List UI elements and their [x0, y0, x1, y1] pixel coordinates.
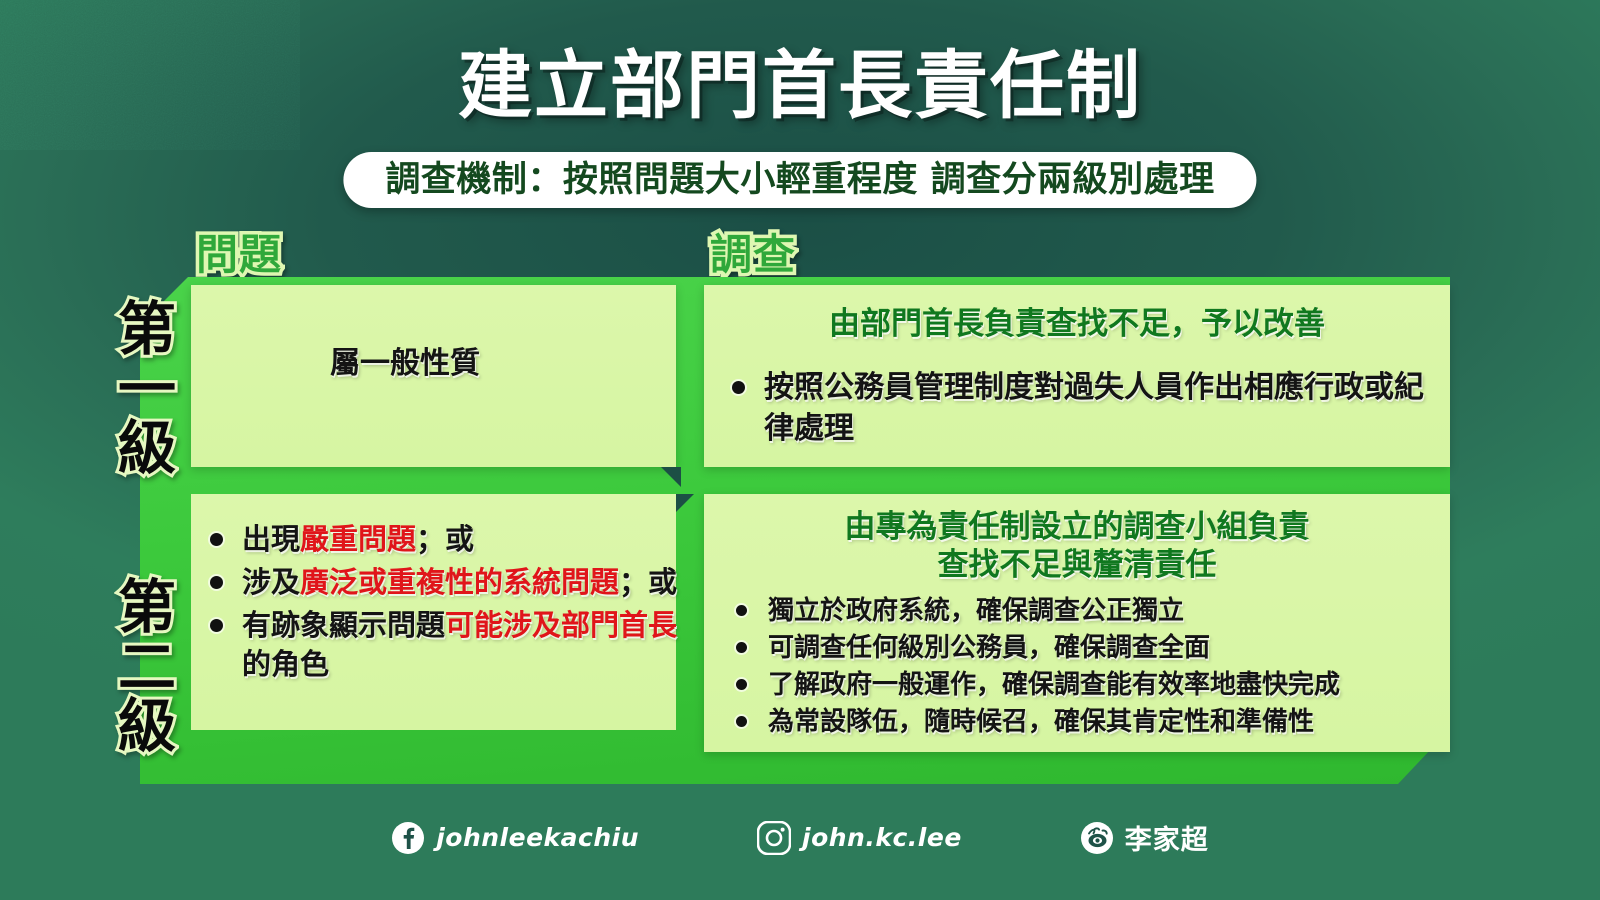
level-label-first: 第 一 級 — [104, 300, 190, 479]
column-header-investigation: 調查 — [710, 234, 796, 276]
facebook-handle: johnleekachiu — [436, 823, 639, 852]
instagram-icon — [757, 821, 791, 855]
list-item: 涉及廣泛或重複性的系統問題；或 — [208, 563, 678, 602]
social-instagram[interactable]: john.kc.lee — [757, 821, 962, 855]
level-2-char-2: 級 — [104, 697, 190, 757]
level-2-char-0: 第 — [104, 578, 190, 638]
column-header-problem: 問題 — [196, 234, 282, 276]
level1-investigation-bullets: 按照公務員管理制度對過失人員作出相應行政或紀律處理 — [730, 368, 1430, 450]
social-weibo[interactable]: 李家超 — [1080, 818, 1209, 857]
level-1-char-0: 第 — [104, 300, 190, 360]
facebook-icon — [391, 821, 425, 855]
list-item: 可調查任何級別公務員，確保調查全面 — [734, 630, 1446, 667]
list-item: 出現嚴重問題；或 — [208, 520, 678, 559]
infographic-slide: 建立部門首長責任制 調查機制：按照問題大小輕重程度 調查分兩級別處理 問題 調查… — [0, 0, 1600, 900]
heading-line-2: 查找不足與釐清責任 — [704, 547, 1450, 585]
level1-problem-text: 屬一般性質 — [330, 338, 480, 382]
list-item: 有跡象顯示問題可能涉及部門首長的角色 — [208, 606, 678, 684]
level2-investigation-heading: 由專為責任制設立的調查小組負責 查找不足與釐清責任 — [704, 509, 1450, 585]
level-1-char-1: 一 — [104, 360, 190, 420]
list-item: 獨立於政府系統，確保調查公正獨立 — [734, 593, 1446, 630]
weibo-icon — [1080, 821, 1114, 855]
page-title: 建立部門首長責任制 — [0, 48, 1600, 126]
level-1-char-2: 級 — [104, 419, 190, 479]
corner-notch-icon — [676, 494, 694, 512]
level-label-second: 第 二 級 — [104, 578, 190, 757]
social-facebook[interactable]: johnleekachiu — [391, 821, 639, 855]
level2-problem-bullets: 出現嚴重問題；或 涉及廣泛或重複性的系統問題；或 有跡象顯示問題可能涉及部門首長… — [208, 520, 678, 689]
list-item: 了解政府一般運作，確保調查能有效率地盡快完成 — [734, 667, 1446, 704]
subtitle-banner: 調查機制：按照問題大小輕重程度 調查分兩級別處理 — [343, 152, 1256, 208]
level1-investigation-heading: 由部門首長負責查找不足，予以改善 — [704, 306, 1450, 344]
instagram-handle: john.kc.lee — [802, 823, 962, 852]
corner-notch-icon — [661, 467, 681, 487]
subtitle-text: 調查機制：按照問題大小輕重程度 調查分兩級別處理 — [385, 163, 1214, 198]
level-2-char-1: 二 — [104, 638, 190, 698]
list-item: 按照公務員管理制度對過失人員作出相應行政或紀律處理 — [730, 368, 1430, 450]
heading-line-1: 由專為責任制設立的調查小組負責 — [704, 509, 1450, 547]
weibo-handle: 李家超 — [1125, 818, 1209, 857]
level2-investigation-bullets: 獨立於政府系統，確保調查公正獨立 可調查任何級別公務員，確保調查全面 了解政府一… — [734, 593, 1446, 741]
list-item: 為常設隊伍，隨時候召，確保其肯定性和準備性 — [734, 704, 1446, 741]
footer-social-bar: johnleekachiu john.kc.lee — [0, 818, 1600, 857]
